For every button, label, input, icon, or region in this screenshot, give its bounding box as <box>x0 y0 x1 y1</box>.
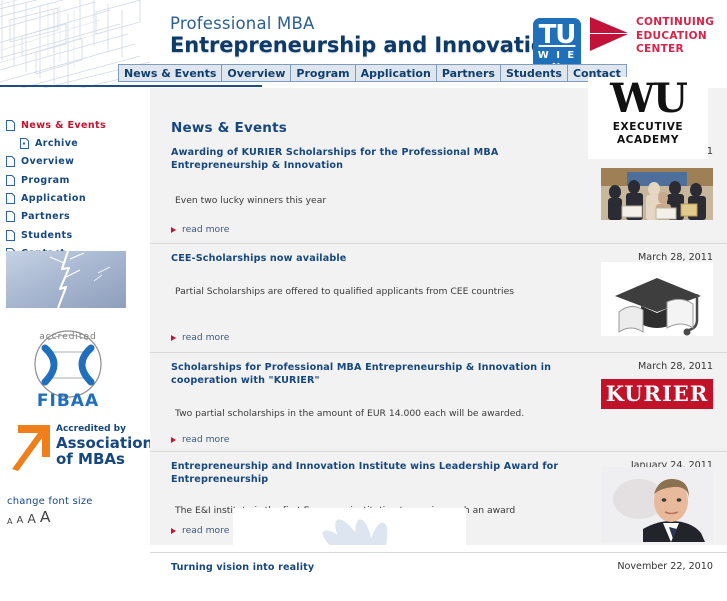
triangle-right-icon <box>171 437 176 443</box>
header-divider-rule <box>0 85 262 87</box>
news-thumbnail[interactable] <box>601 168 713 220</box>
read-more-label: read more <box>182 224 229 235</box>
nav-item-news-events[interactable]: News & Events <box>118 64 221 82</box>
sidebar-item-program[interactable]: Program <box>6 173 150 187</box>
news-date: November 22, 2010 <box>617 561 713 572</box>
sidebar-item-news-events[interactable]: News & Events <box>6 118 150 132</box>
amba-line-3: of MBAs <box>56 452 153 467</box>
news-item: Turning vision into reality November 22,… <box>150 552 727 601</box>
read-more-link[interactable]: read more <box>150 434 727 445</box>
amba-line-1: Accredited by <box>56 425 153 434</box>
cec-line-3: CENTER <box>636 43 714 57</box>
leaf-watermark-graphic <box>233 508 466 545</box>
sidebar-label-students: Students <box>21 230 73 241</box>
news-item: Scholarships for Professional MBA Entrep… <box>150 352 727 451</box>
read-more-label: read more <box>182 332 229 343</box>
sidebar-menu: News & Events Archive Overview Pr <box>6 118 150 261</box>
page-root: Professional MBA Entrepreneurship and In… <box>0 0 727 545</box>
nav-item-overview[interactable]: Overview <box>221 64 290 82</box>
sidebar-item-archive[interactable]: Archive <box>20 136 150 150</box>
tu-logo-mark: TU <box>533 20 581 50</box>
tu-wien-logo[interactable]: TU W I E N <box>533 18 581 70</box>
news-item: CEE-Scholarships now available March 28,… <box>150 243 727 352</box>
nav-item-students[interactable]: Students <box>500 64 567 82</box>
sidebar-label-overview: Overview <box>21 156 74 167</box>
amba-line-2: Association <box>56 436 153 451</box>
svg-text:FIBAA: FIBAA <box>37 391 99 410</box>
sidebar-item-application[interactable]: Application <box>6 192 150 206</box>
cec-line-1: CONTINUING <box>636 16 714 30</box>
font-size-buttons: A A A A <box>7 510 147 526</box>
nav-item-partners[interactable]: Partners <box>436 64 500 82</box>
read-more-label: read more <box>182 525 229 536</box>
sidebar-label-application: Application <box>21 193 86 204</box>
news-title[interactable]: Turning vision into reality <box>171 561 597 574</box>
news-thumbnail[interactable] <box>601 467 713 542</box>
news-title[interactable]: CEE-Scholarships now available <box>171 252 597 265</box>
news-title[interactable]: Awarding of KURIER Scholarships for the … <box>171 146 597 172</box>
triangle-right-icon <box>171 227 176 233</box>
cec-line-2: EDUCATION <box>636 30 714 44</box>
news-header: Turning vision into reality November 22,… <box>150 561 727 574</box>
news-thumbnail[interactable] <box>601 262 713 336</box>
sidebar-label-partners: Partners <box>21 211 70 222</box>
sidebar-label-program: Program <box>21 175 70 186</box>
page-icon <box>6 175 15 186</box>
wu-logo-line-2: ACADEMY <box>588 134 708 147</box>
site-brand: Professional MBA Entrepreneurship and In… <box>170 14 530 58</box>
wu-executive-academy-logo[interactable]: WU EXECUTIVE ACADEMY <box>588 77 708 159</box>
news-date: March 28, 2011 <box>638 361 713 372</box>
sidebar-item-overview[interactable]: Overview <box>6 155 150 169</box>
primary-navigation[interactable]: News & Events Overview Program Applicati… <box>118 64 627 82</box>
news-title[interactable]: Scholarships for Professional MBA Entrep… <box>171 361 597 387</box>
news-thumbnail[interactable]: KURIER <box>601 379 713 409</box>
triangle-right-icon <box>171 335 176 341</box>
font-size-m-button[interactable]: A <box>27 513 36 526</box>
page-icon <box>6 156 15 167</box>
page-icon <box>6 211 15 222</box>
svg-text:accredited: accredited <box>39 332 96 342</box>
font-size-control: change font size A A A A <box>7 496 147 526</box>
wu-logo-line-1: EXECUTIVE <box>588 121 708 134</box>
kurier-logo: KURIER <box>601 379 713 409</box>
brand-line-1: Professional MBA <box>170 14 530 33</box>
cec-logo-text: CONTINUING EDUCATION CENTER <box>636 16 714 57</box>
font-size-xs-button[interactable]: A <box>7 518 12 526</box>
sidebar-label-archive: Archive <box>35 138 78 149</box>
read-more-label: read more <box>182 434 229 445</box>
lightning-storm-image <box>6 251 126 308</box>
nav-item-program[interactable]: Program <box>290 64 354 82</box>
read-more-link[interactable]: read more <box>150 224 727 235</box>
continuing-education-center-logo[interactable]: CONTINUING EDUCATION CENTER <box>588 8 727 70</box>
page-icon <box>6 230 15 241</box>
amba-accreditation-logo: Accredited by Association of MBAs <box>8 425 136 473</box>
brand-line-2: Entrepreneurship and Innovation <box>170 33 530 58</box>
font-size-label: change font size <box>7 496 147 507</box>
sidebar-item-partners[interactable]: Partners <box>6 210 150 224</box>
cec-chevron-icon <box>588 16 630 52</box>
nav-item-application[interactable]: Application <box>355 64 436 82</box>
wu-logo-mark: WU <box>588 77 708 121</box>
page-title: News & Events <box>171 120 287 136</box>
sidebar-label-news-events: News & Events <box>21 120 106 131</box>
page-icon <box>20 138 29 149</box>
page-icon <box>6 120 15 131</box>
fibaa-accreditation-logo: accredited FIBAA <box>18 326 118 410</box>
font-size-s-button[interactable]: A <box>16 516 23 526</box>
font-size-l-button[interactable]: A <box>40 510 51 526</box>
page-icon <box>6 193 15 204</box>
left-sidebar: News & Events Archive Overview Pr <box>0 112 150 545</box>
amba-logo-text: Accredited by Association of MBAs <box>56 425 153 467</box>
news-title[interactable]: Entrepreneurship and Innovation Institut… <box>171 460 597 486</box>
triangle-right-icon <box>171 528 176 534</box>
amba-arrow-icon <box>8 425 52 471</box>
sidebar-item-students[interactable]: Students <box>6 228 150 242</box>
